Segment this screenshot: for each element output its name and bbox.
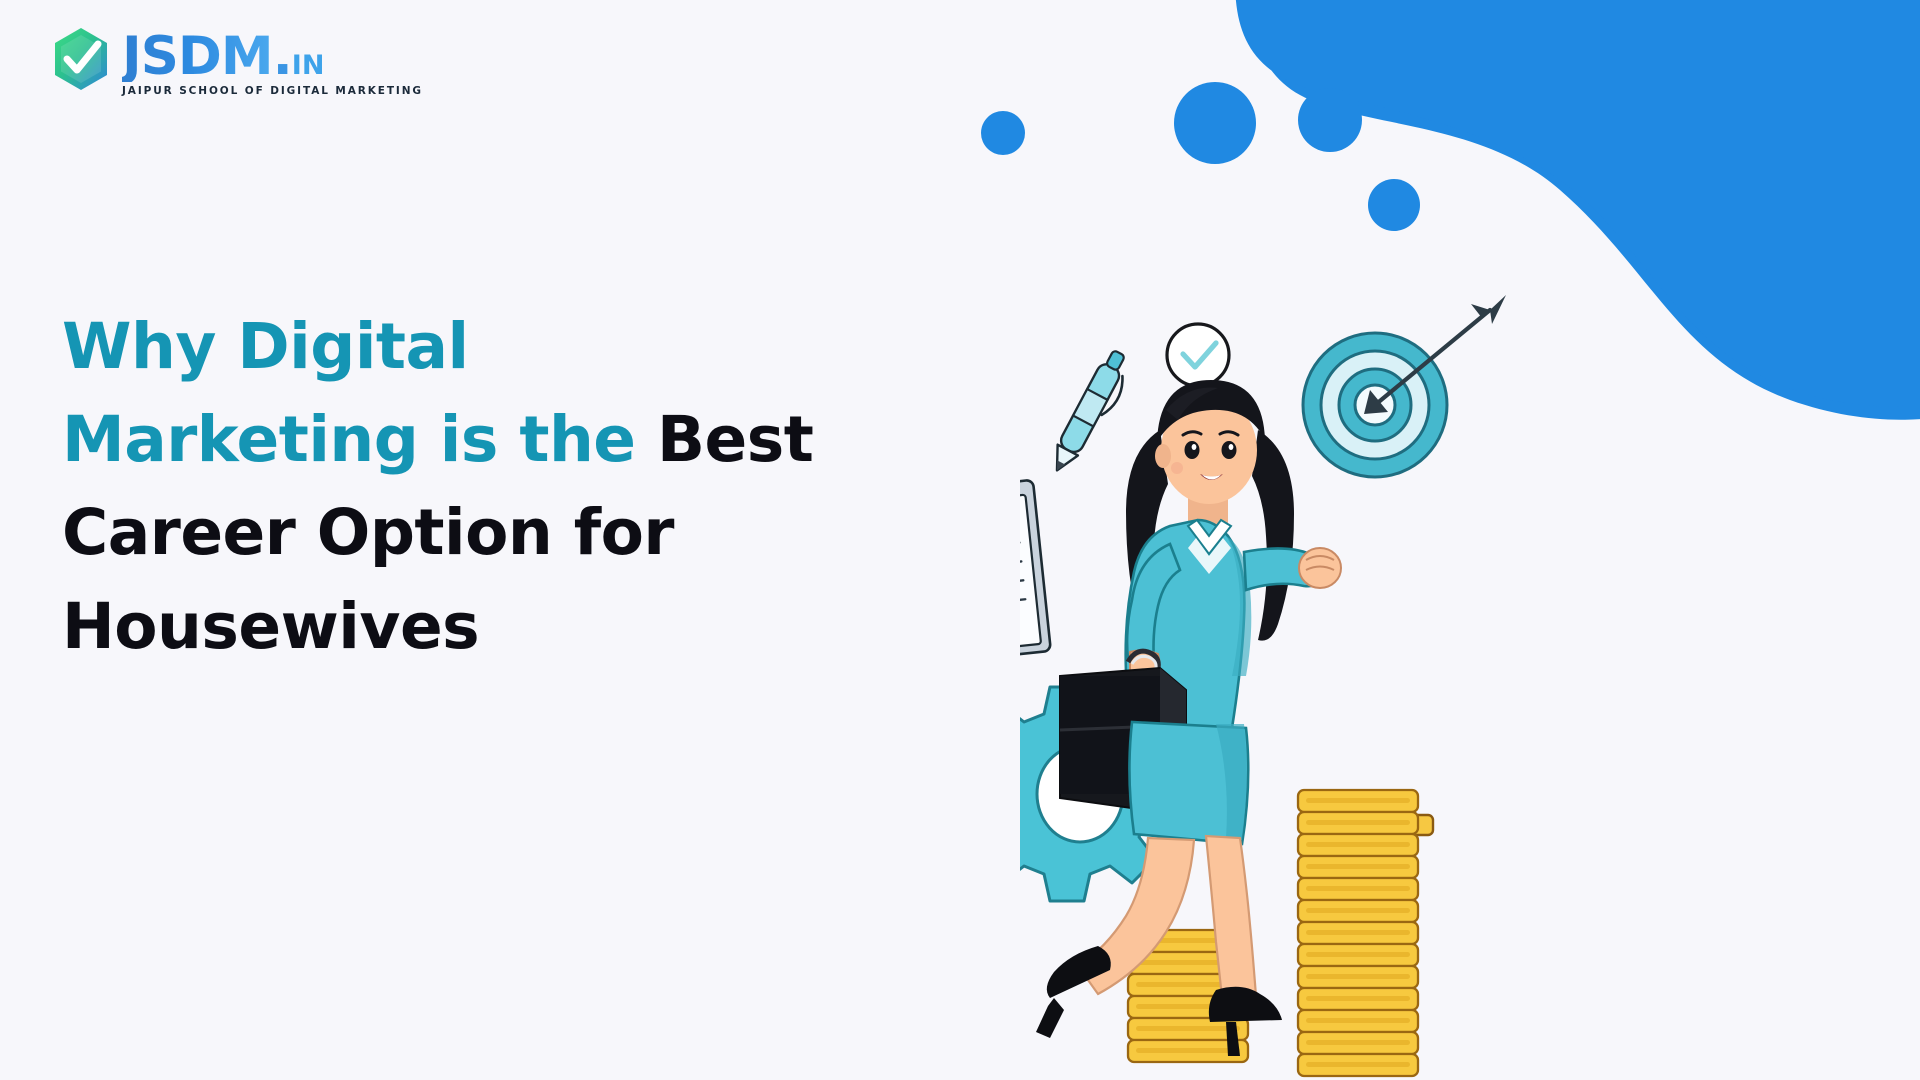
logo-word: JSDM [122, 32, 273, 82]
logo-tld: IN [292, 53, 325, 78]
decor-circle-small-left [981, 111, 1025, 155]
logo-wordmark: JSDM . IN [122, 32, 423, 82]
hexagon-checkmark-icon [50, 26, 112, 96]
pen-icon [1047, 348, 1137, 480]
raised-fist [1299, 548, 1341, 588]
checkmark-circle-icon [1167, 324, 1229, 386]
logo-text: JSDM . IN JAIPUR SCHOOL OF DIGITAL MARKE… [122, 26, 423, 97]
logo[interactable]: JSDM . IN JAIPUR SCHOOL OF DIGITAL MARKE… [50, 26, 423, 97]
target-dartboard-icon [1303, 295, 1506, 477]
logo-tagline: JAIPUR SCHOOL OF DIGITAL MARKETING [122, 85, 423, 97]
page-title: Why Digital Marketing is the Best Career… [62, 300, 902, 673]
headline-line-4: Housewives [62, 590, 479, 663]
hero-illustration [1020, 290, 1920, 1080]
logo-dot: . [273, 32, 292, 82]
decor-circle-medium [1298, 88, 1362, 152]
coin-stack-tall-icon [1298, 790, 1418, 1076]
clipboard-icon [1020, 472, 1051, 665]
decor-circle-lower [1368, 179, 1420, 231]
decor-circle-large [1174, 82, 1256, 164]
headline-line-3: Career Option for [62, 496, 674, 569]
headline-line-1: Why Digital [62, 310, 469, 383]
headline-line-2-accent: Marketing is the [62, 403, 657, 476]
headline-line-2-dark: Best [657, 403, 813, 476]
